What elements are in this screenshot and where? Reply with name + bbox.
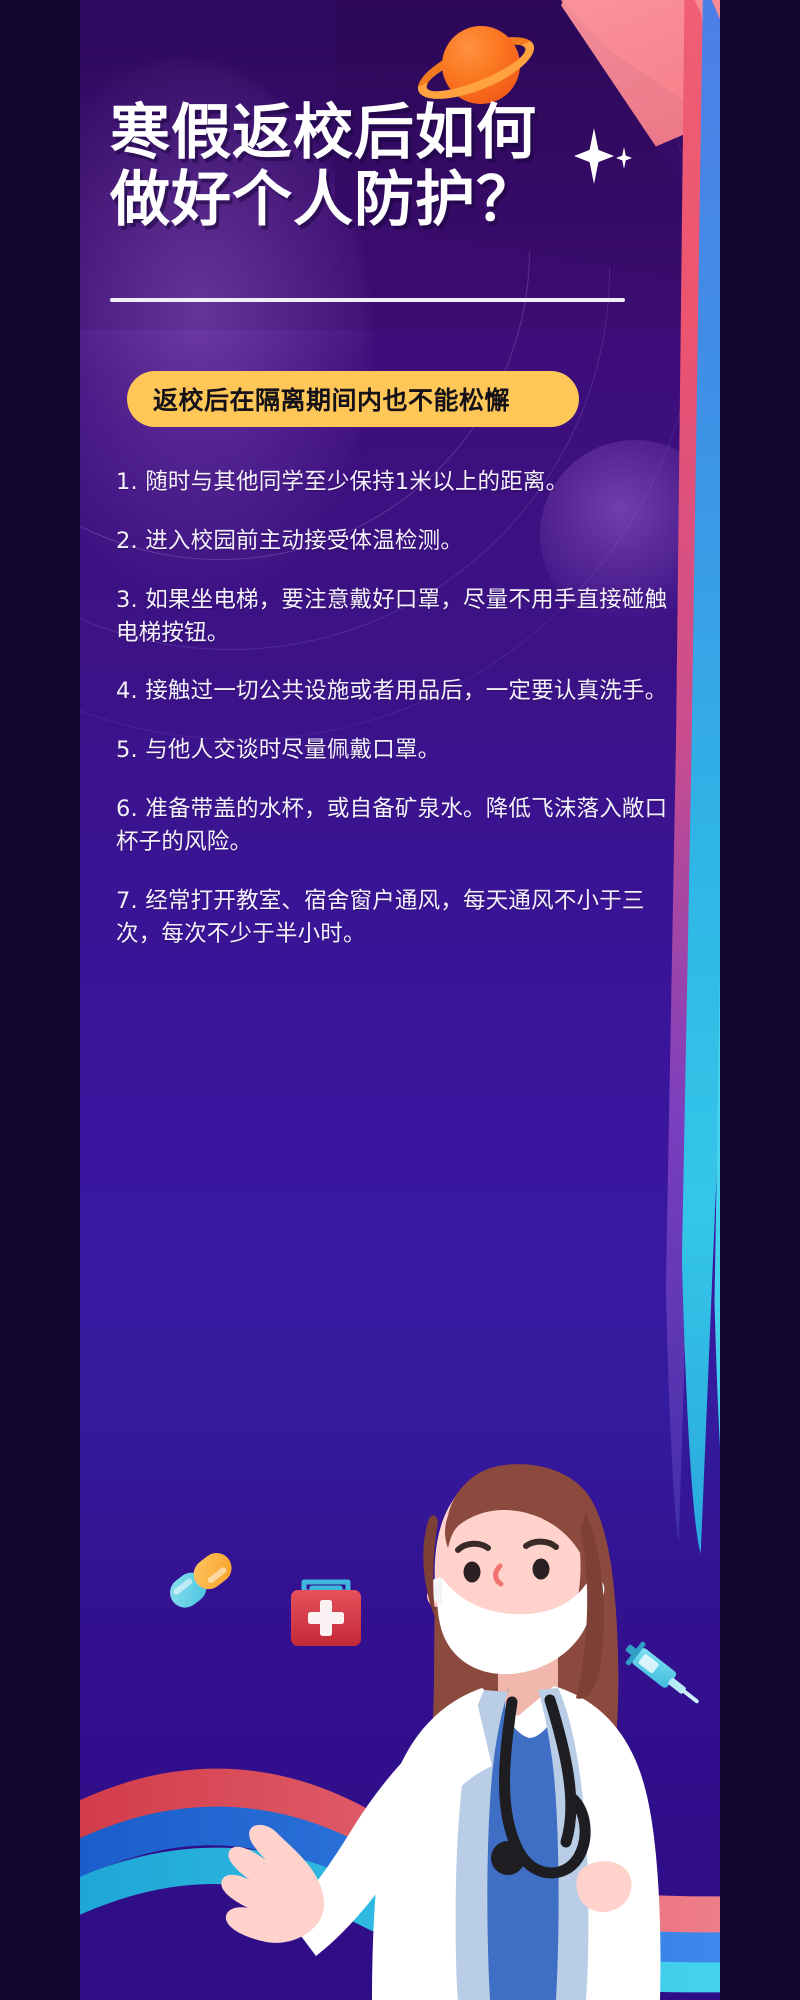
first-aid-kit-icon (291, 1582, 361, 1646)
poster-canvas: 寒假返校后如何 做好个人防护？ 返校后在隔离期间内也不能松懈 1. 随时与其他同… (80, 0, 720, 2000)
pill-capsule-icon (164, 1547, 238, 1614)
eye-left (464, 1562, 481, 1583)
tips-list: 1. 随时与其他同学至少保持1米以上的距离。 2. 进入校园前主动接受体温检测。… (116, 466, 684, 976)
title-line-1: 寒假返校后如何 (110, 100, 670, 167)
syringe-icon (619, 1636, 707, 1713)
eye-right (533, 1559, 550, 1580)
status-badge: 返校后在隔离期间内也不能松懈 (127, 371, 579, 427)
list-item: 5. 与他人交谈时尽量佩戴口罩。 (116, 734, 684, 767)
title-divider (110, 298, 625, 302)
list-item: 2. 进入校园前主动接受体温检测。 (116, 525, 684, 558)
illustration-svg (80, 1380, 720, 2000)
illustration (80, 1380, 720, 2000)
list-item: 7. 经常打开教室、宿舍窗户通风，每天通风不小于三次，每次不少于半小时。 (116, 885, 684, 951)
page-title: 寒假返校后如何 做好个人防护？ (110, 100, 670, 234)
doctor-character (221, 1464, 660, 2000)
list-item: 1. 随时与其他同学至少保持1米以上的距离。 (116, 466, 684, 499)
list-item: 4. 接触过一切公共设施或者用品后，一定要认真洗手。 (116, 675, 684, 708)
badge-label: 返校后在隔离期间内也不能松懈 (153, 381, 510, 417)
title-line-2: 做好个人防护？ (110, 167, 670, 234)
list-item: 3. 如果坐电梯，要注意戴好口罩，尽量不用手直接碰触电梯按钮。 (116, 584, 684, 650)
stethoscope-chestpiece (491, 1841, 525, 1875)
list-item: 6. 准备带盖的水杯，或自备矿泉水。降低飞沫落入敞口杯子的风险。 (116, 793, 684, 859)
